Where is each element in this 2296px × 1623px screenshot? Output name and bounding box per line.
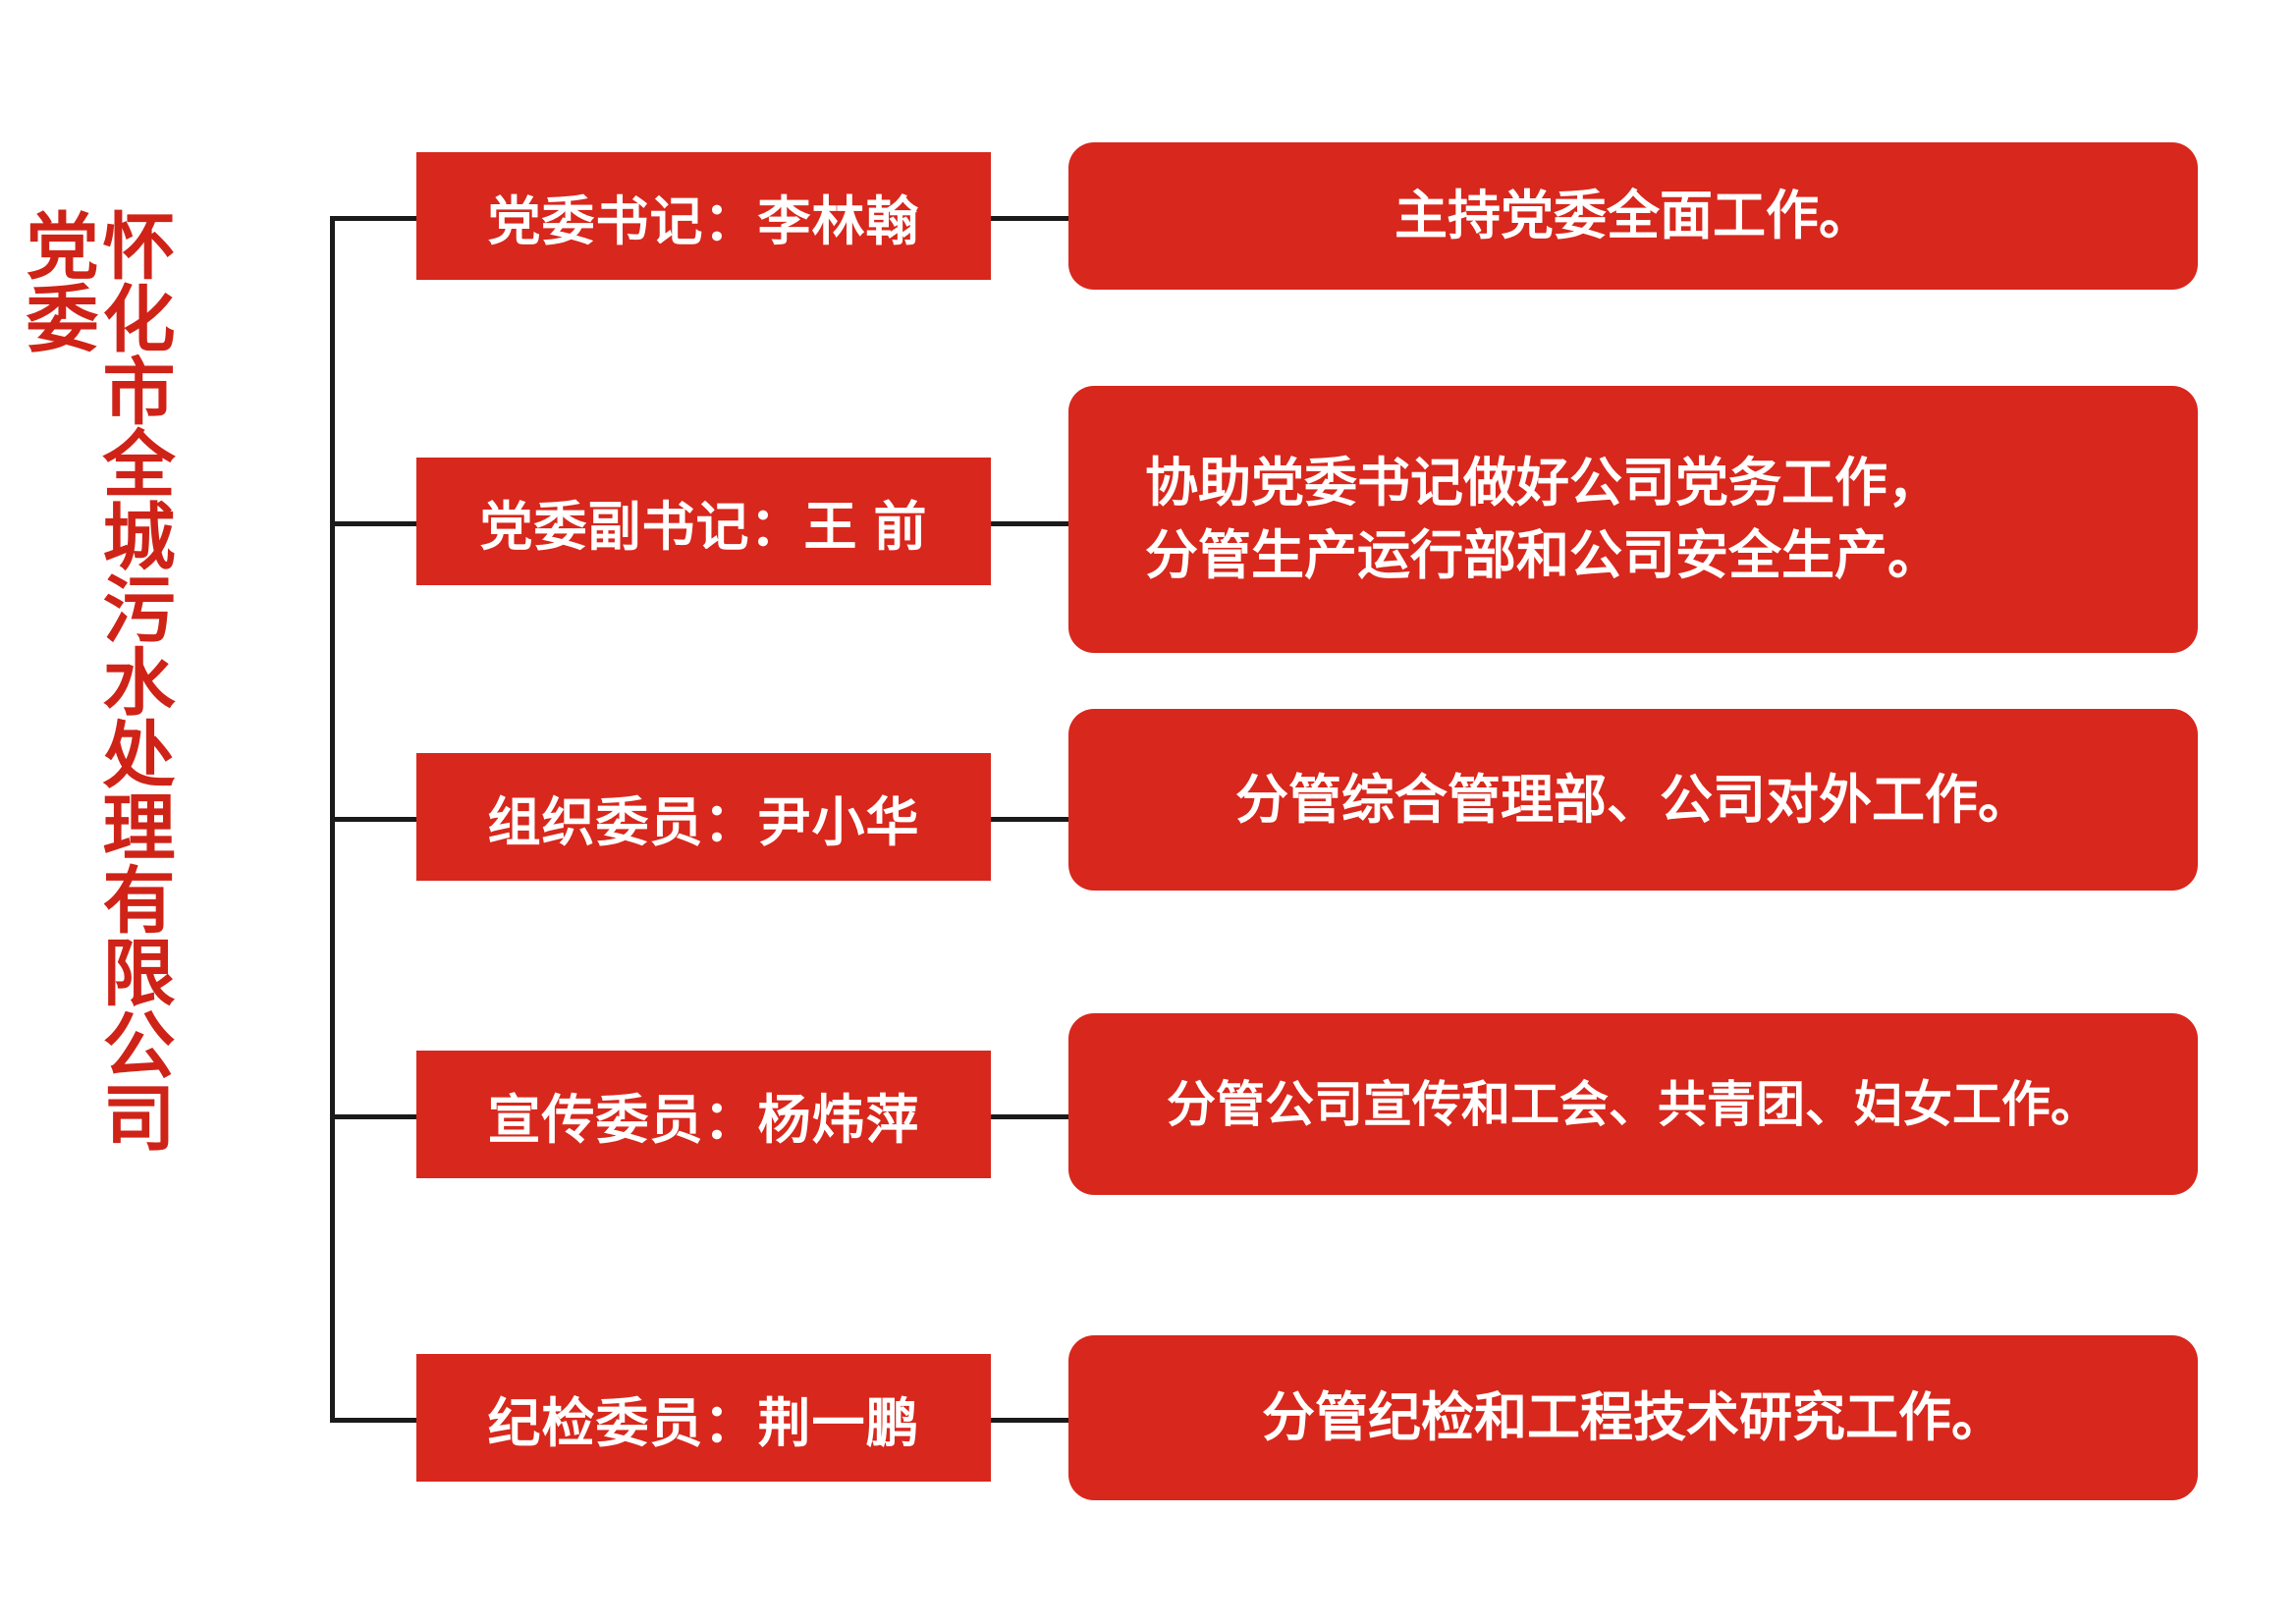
duty-box-5[interactable]: 分管纪检和工程技术研究工作。 — [1068, 1335, 2198, 1500]
role-box-3[interactable]: 组织委员：尹小华 — [416, 753, 991, 881]
connector-stub-1 — [330, 216, 418, 221]
connector-link-3 — [990, 817, 1068, 822]
role-box-4[interactable]: 宣传委员：杨炜萍 — [416, 1051, 991, 1178]
connector-link-5 — [990, 1418, 1068, 1423]
connector-link-2 — [990, 521, 1068, 526]
duty-box-2[interactable]: 协助党委书记做好公司党务工作， 分管生产运行部和公司安全生产。 — [1068, 386, 2198, 653]
duty-box-3[interactable]: 分管综合管理部、公司对外工作。 — [1068, 709, 2198, 891]
connector-stub-2 — [330, 521, 418, 526]
role-box-2[interactable]: 党委副书记：王 前 — [416, 458, 991, 585]
org-title-vertical: 怀化市全城污水处理有限公司党委 — [77, 208, 171, 1200]
connector-stub-4 — [330, 1114, 418, 1119]
connector-link-4 — [990, 1114, 1068, 1119]
duty-box-1[interactable]: 主持党委全面工作。 — [1068, 142, 2198, 290]
org-chart-canvas: 怀化市全城污水处理有限公司党委 党委书记：李林翰 主持党委全面工作。 党委副书记… — [0, 0, 2296, 1623]
duty-box-4[interactable]: 分管公司宣传和工会、共青团、妇女工作。 — [1068, 1013, 2198, 1195]
role-box-1[interactable]: 党委书记：李林翰 — [416, 152, 991, 280]
connector-stub-5 — [330, 1418, 418, 1423]
connector-stub-3 — [330, 817, 418, 822]
role-box-5[interactable]: 纪检委员：荆一鹏 — [416, 1354, 991, 1482]
connector-link-1 — [990, 216, 1068, 221]
